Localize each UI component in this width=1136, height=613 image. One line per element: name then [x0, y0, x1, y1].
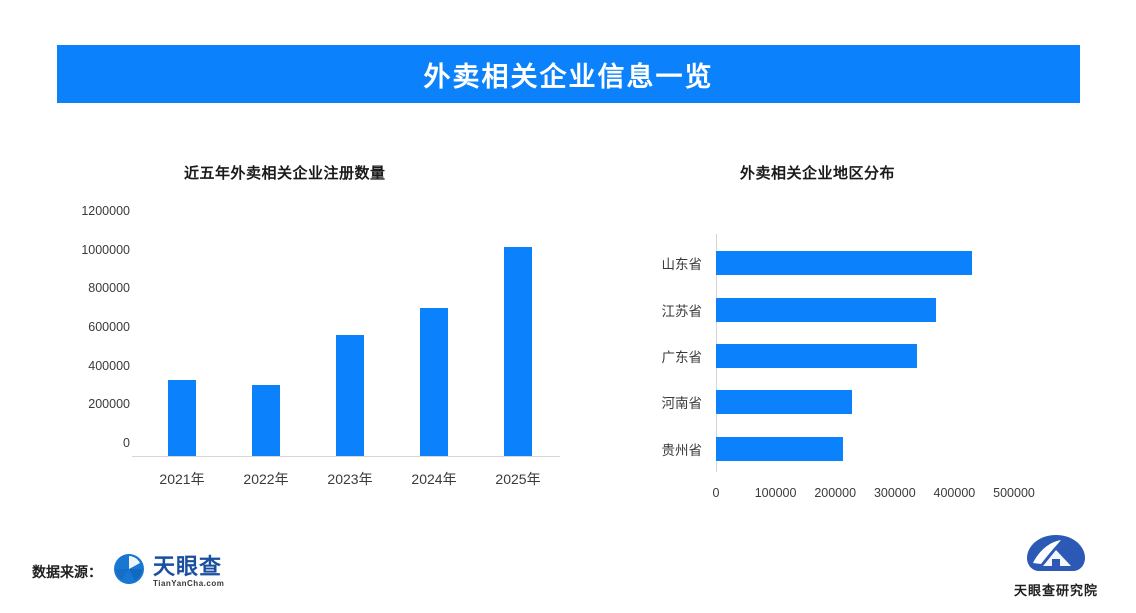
bar-row: 山东省 — [716, 251, 1014, 275]
bar — [716, 390, 852, 414]
right-chart-title: 外卖相关企业地区分布 — [740, 162, 895, 183]
x-axis-tick-label: 2022年 — [224, 469, 308, 489]
bar-row: 贵州省 — [716, 437, 1014, 461]
category-label: 江苏省 — [662, 300, 703, 320]
y-axis-tick-label: 1200000 — [81, 204, 130, 218]
bar — [336, 335, 364, 456]
bar — [504, 247, 532, 456]
x-axis-tick-label: 100000 — [755, 486, 797, 500]
right-chart-panel: 外卖相关企业地区分布 山东省江苏省广东省河南省贵州省 0100000200000… — [610, 140, 1080, 510]
page-banner: 外卖相关企业信息一览 — [57, 45, 1080, 103]
bar — [168, 380, 196, 456]
bar-row: 广东省 — [716, 344, 1014, 368]
bar-row: 河南省 — [716, 390, 1014, 414]
vertical-chart-bars — [140, 225, 560, 456]
vertical-chart-x-labels: 2021年2022年2023年2024年2025年 — [140, 469, 560, 489]
tianyancha-wordmark: 天眼查 TianYanCha.com — [153, 556, 224, 588]
registrations-bar-chart: 2021年2022年2023年2024年2025年 02000004000006… — [140, 225, 560, 457]
y-axis-tick-label: 600000 — [88, 320, 130, 334]
x-axis-tick-label: 2023年 — [308, 469, 392, 489]
x-axis-tick-label: 2025年 — [476, 469, 560, 489]
x-axis-tick-label: 200000 — [814, 486, 856, 500]
bar-column — [308, 225, 392, 456]
bar-row: 江苏省 — [716, 298, 1014, 322]
tianyancha-lens-icon — [112, 552, 146, 591]
category-label: 广东省 — [662, 346, 703, 366]
bar — [716, 251, 972, 275]
data-source-footer: 数据来源： 天眼查 TianYanCha.com — [32, 552, 224, 591]
horizontal-chart-x-labels: 0100000200000300000400000500000 — [716, 486, 1014, 502]
bar-column — [392, 225, 476, 456]
vertical-chart-baseline — [132, 456, 560, 457]
bar-column — [140, 225, 224, 456]
left-chart-title: 近五年外卖相关企业注册数量 — [184, 162, 386, 183]
left-chart-panel: 近五年外卖相关企业注册数量 2021年2022年2023年2024年2025年 … — [60, 140, 580, 510]
y-axis-tick-label: 400000 — [88, 359, 130, 373]
bar-column — [224, 225, 308, 456]
data-source-label: 数据来源： — [32, 562, 102, 582]
bar — [716, 437, 843, 461]
bar — [420, 308, 448, 456]
infographic-page: 外卖相关企业信息一览 近五年外卖相关企业注册数量 2021年2022年2023年… — [0, 0, 1136, 613]
bar — [252, 385, 280, 456]
x-axis-tick-label: 500000 — [993, 486, 1035, 500]
page-title: 外卖相关企业信息一览 — [424, 55, 714, 94]
bar — [716, 344, 917, 368]
y-axis-tick-label: 1000000 — [81, 243, 130, 257]
tianyancha-brand-en: TianYanCha.com — [153, 580, 224, 588]
x-axis-tick-label: 0 — [713, 486, 720, 500]
category-label: 贵州省 — [662, 439, 703, 459]
institute-footer: 天眼查研究院 — [1014, 533, 1098, 599]
category-label: 山东省 — [662, 253, 703, 273]
y-axis-tick-label: 800000 — [88, 281, 130, 295]
institute-name: 天眼查研究院 — [1014, 580, 1098, 599]
region-distribution-bar-chart: 山东省江苏省广东省河南省贵州省 010000020000030000040000… — [716, 240, 1014, 472]
bar — [716, 298, 936, 322]
tianyancha-logo: 天眼查 TianYanCha.com — [112, 552, 224, 591]
y-axis-tick-label: 0 — [123, 436, 130, 450]
category-label: 河南省 — [662, 392, 703, 412]
tianyancha-institute-icon — [1025, 533, 1087, 578]
x-axis-tick-label: 2024年 — [392, 469, 476, 489]
x-axis-tick-label: 2021年 — [140, 469, 224, 489]
bar-column — [476, 225, 560, 456]
tianyancha-brand-cn: 天眼查 — [153, 556, 224, 578]
x-axis-tick-label: 400000 — [934, 486, 976, 500]
horizontal-chart-bars: 山东省江苏省广东省河南省贵州省 — [716, 240, 1014, 472]
x-axis-tick-label: 300000 — [874, 486, 916, 500]
y-axis-tick-label: 200000 — [88, 397, 130, 411]
